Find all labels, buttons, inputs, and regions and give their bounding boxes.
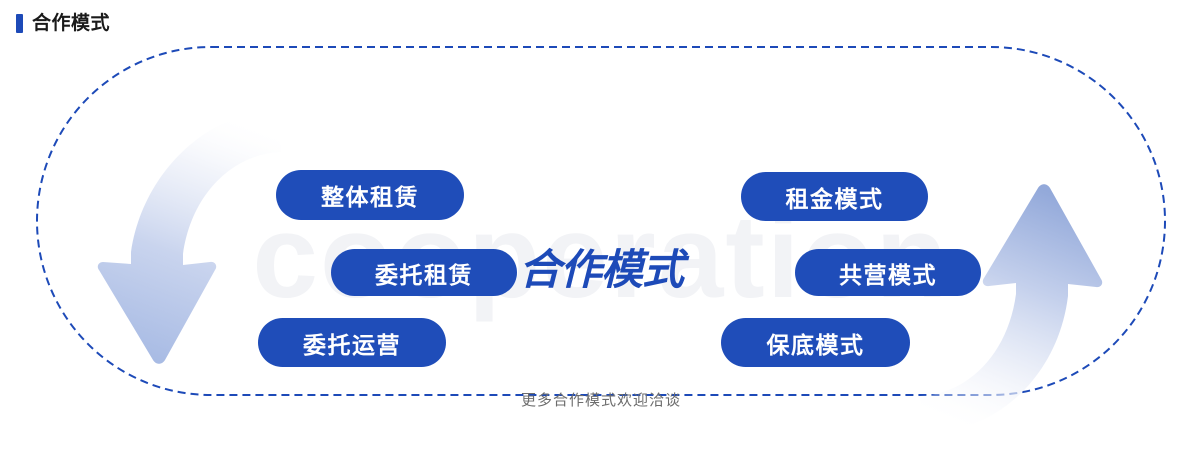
header-accent-bar — [16, 14, 23, 33]
mode-pill-rent-model[interactable]: 租金模式 — [741, 172, 928, 221]
cooperation-diagram: cooperation — [36, 46, 1166, 396]
mode-pill-entrusted-lease[interactable]: 委托租赁 — [331, 249, 517, 296]
mode-pill-joint-operation[interactable]: 共营模式 — [795, 249, 981, 296]
footnote-text: 更多合作模式欢迎洽谈 — [36, 393, 1166, 408]
mode-pill-whole-lease[interactable]: 整体租赁 — [276, 170, 464, 220]
mode-pill-entrusted-operation[interactable]: 委托运营 — [258, 318, 446, 367]
mode-pill-guaranteed-model[interactable]: 保底模式 — [721, 318, 910, 367]
page-title: 合作模式 — [32, 14, 110, 33]
section-header: 合作模式 — [16, 10, 110, 36]
center-logo-text: 合作模式 — [36, 249, 1166, 291]
